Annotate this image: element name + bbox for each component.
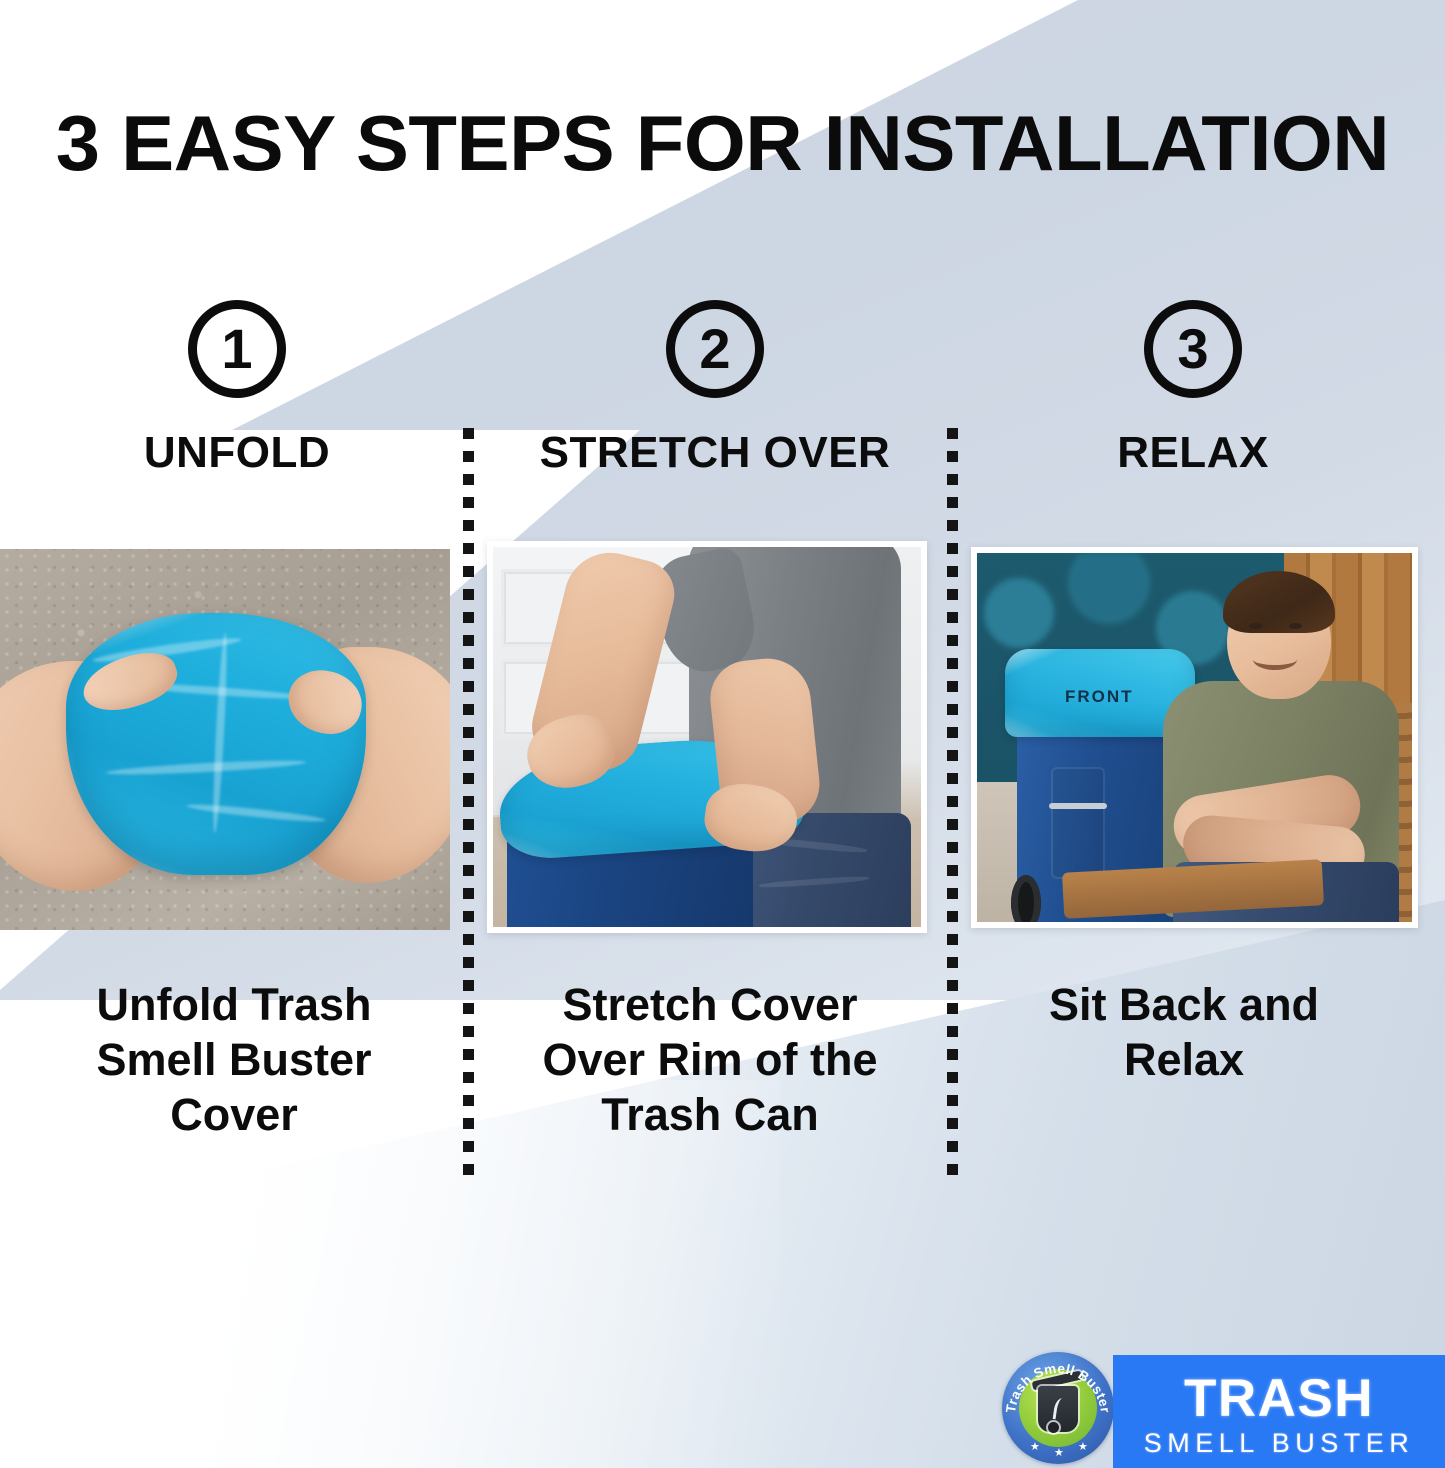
step-1-photo-content — [0, 549, 450, 930]
folded-blue-cover — [66, 613, 366, 875]
brand-logo: Trash Smell Buster ★ ★ ★ TRASH SMELL BUS… — [996, 1348, 1445, 1468]
brand-badge-icon: Trash Smell Buster ★ ★ ★ — [1002, 1352, 1114, 1464]
step-1-header: 1 UNFOLD — [2, 300, 472, 478]
step-2-photo — [487, 541, 927, 933]
brand-name-secondary: SMELL BUSTER — [1113, 1428, 1445, 1459]
brand-panel: TRASH SMELL BUSTER — [1113, 1355, 1445, 1468]
cover-front-label: FRONT — [1065, 687, 1134, 707]
step-2-number-badge: 2 — [666, 300, 764, 398]
column-divider-2 — [947, 428, 958, 1180]
person-left-eye — [1249, 623, 1262, 629]
step-3-header: 3 RELAX — [958, 300, 1428, 478]
badge-star-left: ★ — [1030, 1442, 1040, 1453]
column-divider-1 — [463, 428, 474, 1180]
step-3-caption: Sit Back and Relax — [958, 978, 1410, 1088]
step-3-label: RELAX — [958, 428, 1428, 478]
badge-arc-label: Trash Smell Buster — [1003, 1361, 1113, 1414]
trash-can-slot — [1051, 767, 1105, 879]
trash-can-handle-bar — [1049, 803, 1107, 809]
person-smile — [1253, 649, 1297, 670]
step-3-photo-content: FRONT — [977, 553, 1412, 922]
infographic-canvas: 3 EASY STEPS FOR INSTALLATION 1 UNFOLD 2… — [0, 0, 1445, 1468]
step-2-header: 2 STRETCH OVER — [480, 300, 950, 478]
svg-text:Trash Smell Buster: Trash Smell Buster — [1003, 1361, 1113, 1414]
page-title: 3 EASY STEPS FOR INSTALLATION — [0, 98, 1445, 189]
badge-star-right: ★ — [1078, 1442, 1088, 1453]
step-3-number-badge: 3 — [1144, 300, 1242, 398]
step-3-photo: FRONT — [971, 547, 1418, 928]
step-1-photo — [0, 549, 450, 930]
trash-can-wheel — [1011, 875, 1041, 922]
step-2-caption: Stretch Cover Over Rim of the Trash Can — [484, 978, 936, 1143]
person-right-eye — [1289, 623, 1302, 629]
brand-name-primary: TRASH — [1113, 1368, 1445, 1429]
step-2-photo-content — [493, 547, 921, 927]
step-2-label: STRETCH OVER — [480, 428, 950, 478]
step-1-caption: Unfold Trash Smell Buster Cover — [8, 978, 460, 1143]
step-1-number-badge: 1 — [188, 300, 286, 398]
badge-star-center: ★ — [1054, 1448, 1064, 1459]
step-1-label: UNFOLD — [2, 428, 472, 478]
